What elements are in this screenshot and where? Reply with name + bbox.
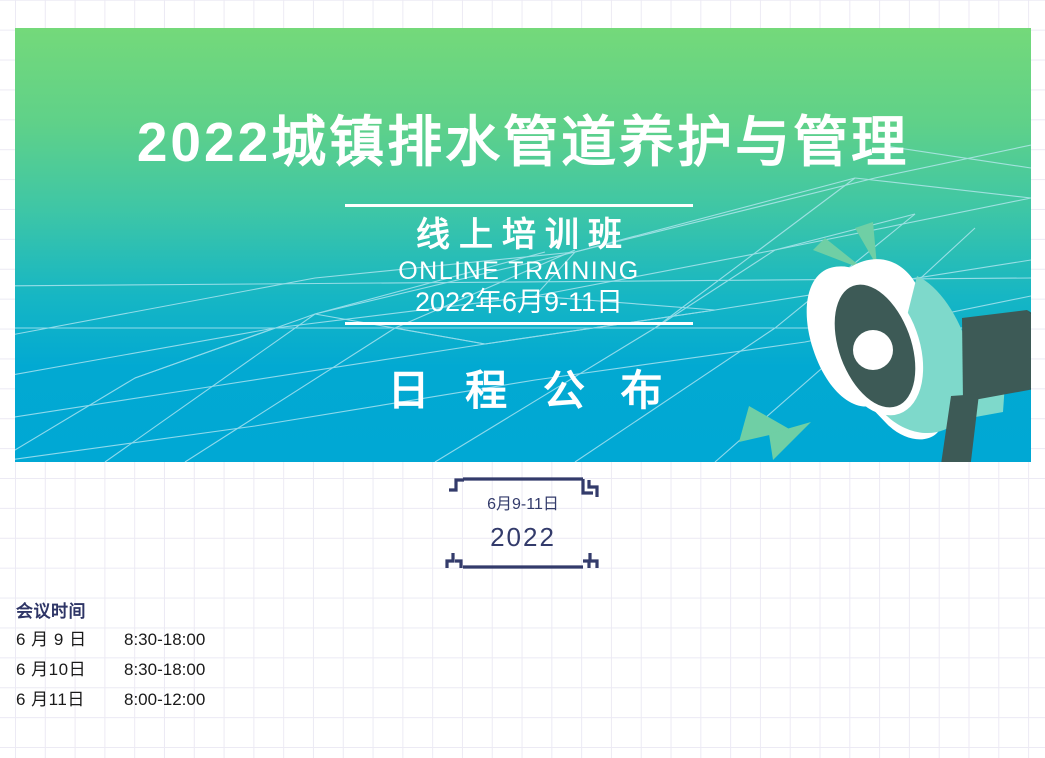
meeting-time-heading: 会议时间 (16, 598, 205, 625)
meeting-hours: 8:30-18:00 (124, 655, 205, 685)
badge-year: 2022 (443, 521, 603, 553)
meeting-date: 6 月10日 (16, 655, 124, 685)
banner-subtitle-block: 线上培训班 ONLINE TRAINING 2022年6月9-11日 (345, 204, 693, 325)
banner-title: 2022城镇排水管道养护与管理 (15, 112, 1031, 172)
meeting-time-block: 会议时间 6 月 9 日 8:30-18:00 6 月10日 8:30-18:0… (16, 598, 205, 715)
meeting-time-row: 6 月11日 8:00-12:00 (16, 685, 205, 715)
banner-subtitle-en: ONLINE TRAINING (345, 257, 693, 285)
date-badge[interactable]: 6月9-11日 2022 (443, 473, 603, 573)
badge-date: 6月9-11日 (443, 495, 603, 515)
meeting-hours: 8:00-12:00 (124, 685, 205, 715)
banner-subtitle-cn: 线上培训班 (345, 207, 693, 257)
megaphone-icon (707, 198, 1031, 462)
banner-subtitle-date: 2022年6月9-11日 (345, 285, 693, 322)
meeting-time-row: 6 月10日 8:30-18:00 (16, 655, 205, 685)
meeting-date: 6 月11日 (16, 685, 124, 715)
divider-bottom (345, 322, 693, 325)
meeting-hours: 8:30-18:00 (124, 625, 205, 655)
meeting-date: 6 月 9 日 (16, 625, 124, 655)
banner-kicker: 日 程 公 布 (345, 366, 705, 416)
meeting-time-row: 6 月 9 日 8:30-18:00 (16, 625, 205, 655)
banner-image[interactable]: 2022城镇排水管道养护与管理 线上培训班 ONLINE TRAINING 20… (15, 28, 1031, 462)
